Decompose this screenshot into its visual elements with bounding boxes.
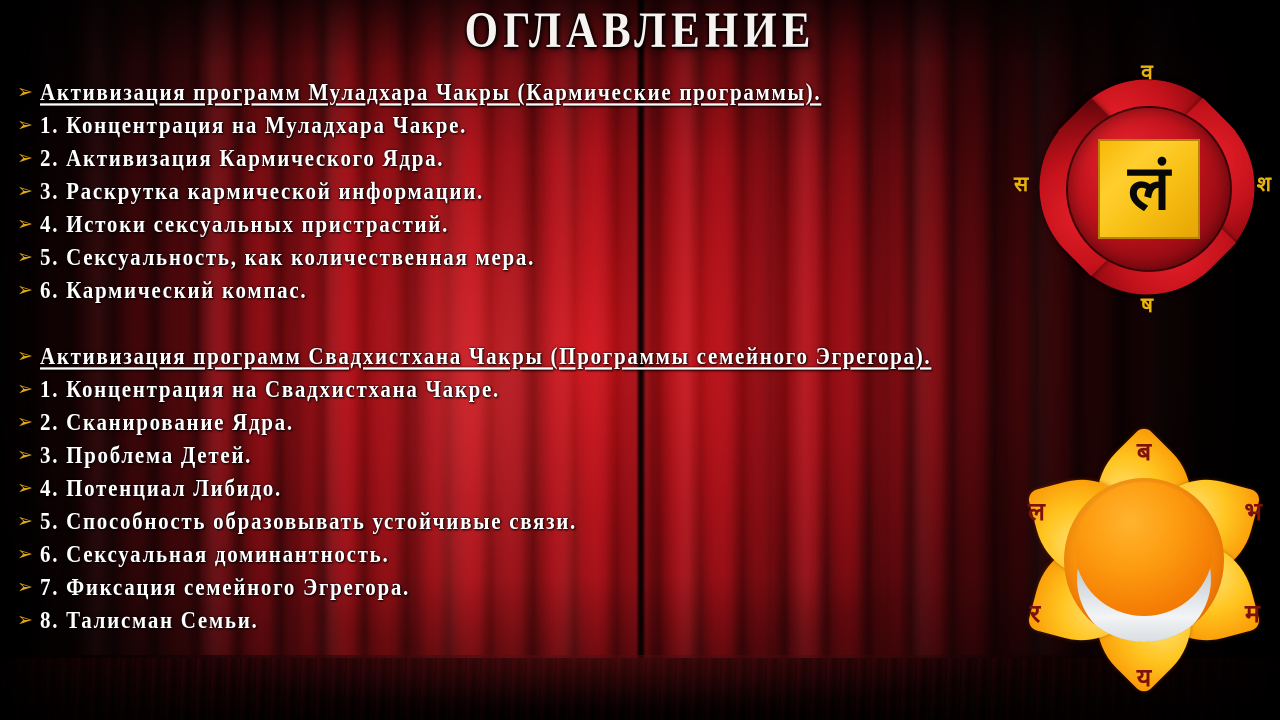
toc-item-label: 1. Концентрация на Муладхара Чакре. [40, 107, 467, 145]
toc-section-heading[interactable]: ➢Активизация программ Свадхистхана Чакры… [10, 340, 1020, 373]
arrow-bullet-icon: ➢ [10, 175, 40, 208]
arrow-bullet-icon: ➢ [10, 241, 40, 274]
arrow-bullet-icon: ➢ [10, 109, 40, 142]
toc-item[interactable]: ➢7. Фиксация семейного Эгрегора. [10, 571, 1020, 604]
arrow-bullet-icon: ➢ [10, 604, 40, 637]
toc-item-label: 5. Сексуальность, как количественная мер… [40, 239, 535, 277]
toc-item[interactable]: ➢2. Активизация Кармического Ядра. [10, 142, 1020, 175]
toc-item-label: 4. Истоки сексуальных пристрастий. [40, 206, 449, 244]
arrow-bullet-icon: ➢ [10, 538, 40, 571]
presentation-slide: ОГЛАВЛЕНИЕ ➢Активизация программ Муладха… [0, 0, 1280, 720]
toc-item[interactable]: ➢1. Концентрация на Муладхара Чакре. [10, 109, 1020, 142]
toc-item-label: 6. Сексуальная доминантность. [40, 536, 389, 574]
toc-item[interactable]: ➢4. Потенциал Либидо. [10, 472, 1020, 505]
arrow-bullet-icon: ➢ [10, 142, 40, 175]
svadhisthana-petal-letter-1: ब [1137, 434, 1151, 468]
toc-item[interactable]: ➢6. Сексуальная доминантность. [10, 538, 1020, 571]
toc-item-label: Активизация программ Свадхистхана Чакры … [40, 338, 931, 376]
arrow-bullet-icon: ➢ [10, 208, 40, 241]
arrow-bullet-icon: ➢ [10, 406, 40, 439]
muladhara-petal-letter-south: ष [1141, 291, 1153, 319]
arrow-bullet-icon: ➢ [10, 373, 40, 406]
muladhara-petal-letter-north: व [1141, 58, 1153, 86]
toc-item-label: 8. Талисман Семьи. [40, 602, 258, 640]
muladhara-petal-letter-east: श [1257, 170, 1271, 198]
svadhisthana-chakra-symbol: व ब भ म य र ल [1010, 410, 1278, 710]
toc-item-label: 3. Раскрутка кармической информации. [40, 173, 484, 211]
muladhara-square-yantra: लं [1098, 139, 1200, 239]
toc-item[interactable]: ➢6. Кармический компас. [10, 274, 1020, 307]
muladhara-bija-mantra: लं [1128, 157, 1170, 219]
arrow-bullet-icon: ➢ [10, 439, 40, 472]
crescent-moon-mask [1075, 482, 1213, 616]
toc-item-label: 3. Проблема Детей. [40, 437, 252, 475]
svadhisthana-petal-letter-4: य [1137, 660, 1152, 694]
toc-item[interactable]: ➢3. Проблема Детей. [10, 439, 1020, 472]
svadhisthana-petal-letter-6: ल [1028, 494, 1045, 528]
toc-item[interactable]: ➢8. Талисман Семьи. [10, 604, 1020, 637]
muladhara-chakra-symbol: लं व श ष स [1018, 42, 1276, 332]
toc-item[interactable]: ➢5. Сексуальность, как количественная ме… [10, 241, 1020, 274]
svadhisthana-circle: व [1064, 478, 1224, 642]
toc-item[interactable]: ➢1. Концентрация на Свадхистхана Чакре. [10, 373, 1020, 406]
svadhisthana-petal-letter-2: भ [1244, 494, 1262, 528]
svadhisthana-petal-letter-5: र [1030, 596, 1040, 630]
toc-section-heading[interactable]: ➢Активизация программ Муладхара Чакры (К… [10, 76, 1020, 109]
toc-item-label: 2. Сканирование Ядра. [40, 404, 294, 442]
toc-item-label: 4. Потенциал Либидо. [40, 470, 282, 508]
muladhara-petal-letter-west: स [1014, 170, 1028, 198]
toc-item-label: 1. Концентрация на Свадхистхана Чакре. [40, 371, 500, 409]
arrow-bullet-icon: ➢ [10, 274, 40, 307]
toc-item[interactable]: ➢2. Сканирование Ядра. [10, 406, 1020, 439]
arrow-bullet-icon: ➢ [10, 340, 40, 373]
toc-item-label: 2. Активизация Кармического Ядра. [40, 140, 444, 178]
toc-item-label: 6. Кармический компас. [40, 272, 307, 310]
toc-spacer [10, 307, 1020, 340]
toc-item[interactable]: ➢4. Истоки сексуальных пристрастий. [10, 208, 1020, 241]
toc-item-label: Активизация программ Муладхара Чакры (Ка… [40, 74, 821, 112]
svadhisthana-petal-letter-3: म [1245, 596, 1260, 630]
arrow-bullet-icon: ➢ [10, 76, 40, 109]
table-of-contents-list: ➢Активизация программ Муладхара Чакры (К… [10, 76, 1020, 637]
toc-item-label: 5. Способность образовывать устойчивые с… [40, 503, 577, 541]
toc-item[interactable]: ➢3. Раскрутка кармической информации. [10, 175, 1020, 208]
arrow-bullet-icon: ➢ [10, 571, 40, 604]
toc-item-label: 7. Фиксация семейного Эгрегора. [40, 569, 410, 607]
arrow-bullet-icon: ➢ [10, 472, 40, 505]
arrow-bullet-icon: ➢ [10, 505, 40, 538]
toc-item[interactable]: ➢5. Способность образовывать устойчивые … [10, 505, 1020, 538]
